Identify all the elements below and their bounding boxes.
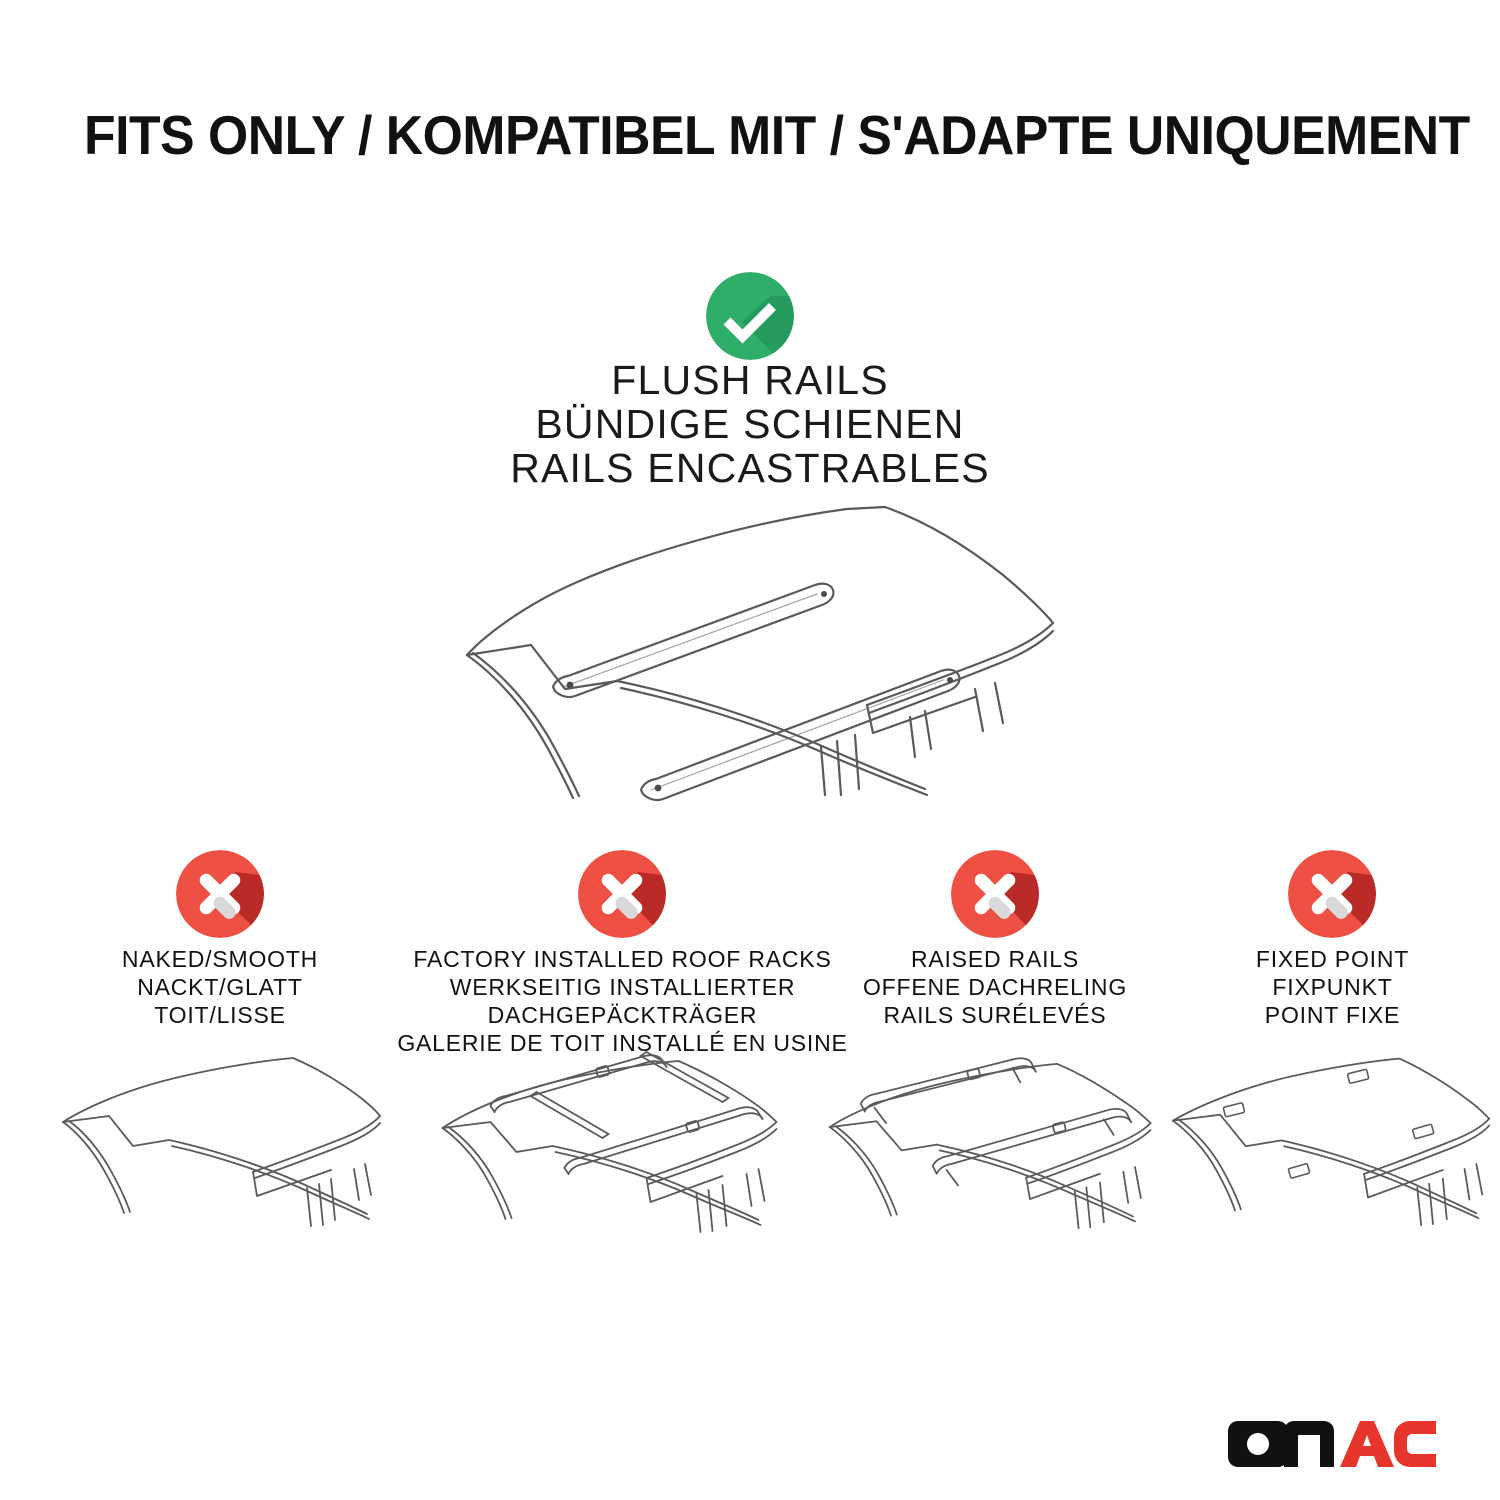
- check-circle-icon: [706, 272, 794, 360]
- compatible-label: FLUSH RAILS BÜNDIGE SCHIENEN RAILS ENCAS…: [250, 358, 1250, 490]
- incompatible-label-factory-roof-racks: FACTORY INSTALLED ROOF RACKS WERKSEITIG …: [395, 945, 850, 1057]
- label-line-2: WERKSEITIG INSTALLIERTER: [395, 973, 850, 1001]
- compatible-label-line-1: FLUSH RAILS: [250, 358, 1250, 402]
- label-line-1: FACTORY INSTALLED ROOF RACKS: [395, 945, 850, 973]
- car-roof-factory-installed-roof-racks-illustration: [395, 1050, 850, 1280]
- page-title: FITS ONLY / KOMPATIBEL MIT / S'ADAPTE UN…: [84, 104, 1424, 166]
- label-line-2: NACKT/GLATT: [55, 973, 385, 1001]
- label-line-3: TOIT/LISSE: [55, 1001, 385, 1029]
- label-line-2: FIXPUNKT: [1165, 973, 1500, 1001]
- incompatible-label-fixed-point: FIXED POINT FIXPUNKT POINT FIXE: [1165, 945, 1500, 1029]
- car-roof-with-flush-rails-illustration: [455, 495, 1055, 805]
- x-circle-icon: [578, 850, 666, 938]
- car-roof-fixed-point-illustration: [1165, 1050, 1500, 1280]
- label-line-1: RAISED RAILS: [820, 945, 1170, 973]
- x-circle-icon: [951, 850, 1039, 938]
- compatible-label-line-2: BÜNDIGE SCHIENEN: [250, 402, 1250, 446]
- label-line-1: NAKED/SMOOTH: [55, 945, 385, 973]
- car-roof-naked-smooth-illustration: [55, 1050, 385, 1280]
- x-circle-icon: [176, 850, 264, 938]
- car-roof-raised-rails-illustration: [820, 1050, 1170, 1280]
- incompatible-section: NAKED/SMOOTH NACKT/GLATT TOIT/LISSE: [0, 845, 1500, 1295]
- incompatible-label-naked-smooth: NAKED/SMOOTH NACKT/GLATT TOIT/LISSE: [55, 945, 385, 1029]
- label-line-2: OFFENE DACHRELING: [820, 973, 1170, 1001]
- label-line-1: FIXED POINT: [1165, 945, 1500, 973]
- compatible-label-line-3: RAILS ENCASTRABLES: [250, 446, 1250, 490]
- label-line-3: RAILS SURÉLEVÉS: [820, 1001, 1170, 1029]
- x-circle-icon: [1288, 850, 1376, 938]
- omac-logo: OMAC: [1222, 1413, 1440, 1475]
- label-line-3: DACHGEPÄCKTRÄGER: [395, 1001, 850, 1029]
- label-line-3: POINT FIXE: [1165, 1001, 1500, 1029]
- incompatible-label-raised-rails: RAISED RAILS OFFENE DACHRELING RAILS SUR…: [820, 945, 1170, 1029]
- page-title-text: FITS ONLY / KOMPATIBEL MIT / S'ADAPTE UN…: [84, 104, 1344, 166]
